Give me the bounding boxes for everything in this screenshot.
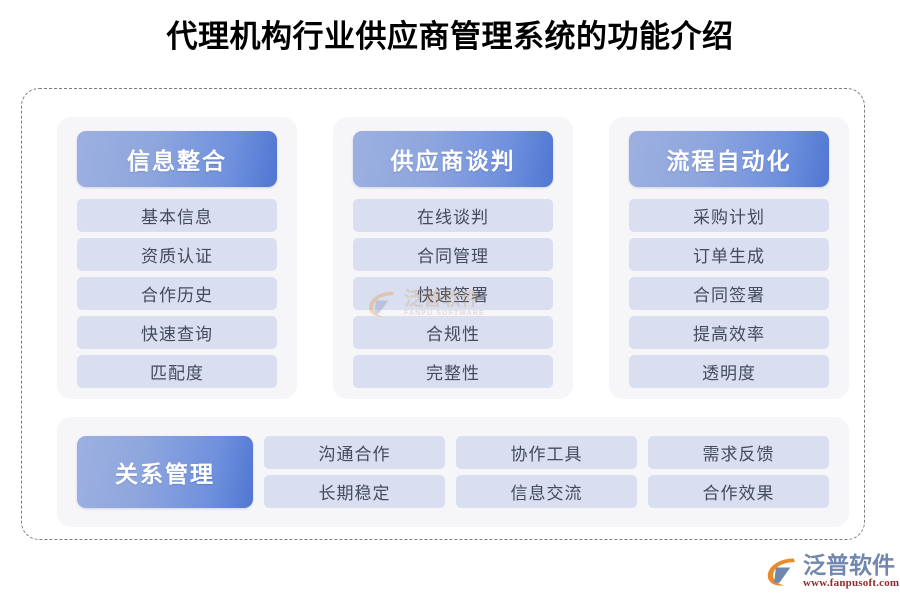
card-header-information-integration[interactable]: 信息整合 [77, 131, 277, 187]
list-item[interactable]: 合同签署 [629, 277, 829, 310]
list-item[interactable]: 快速签署 [353, 277, 553, 310]
list-item[interactable]: 合作历史 [77, 277, 277, 310]
fanpu-swoosh-icon [766, 556, 802, 588]
logo-website-url: www.fanpusoft.com [803, 577, 899, 590]
list-item[interactable]: 订单生成 [629, 238, 829, 271]
list-item[interactable]: 资质认证 [77, 238, 277, 271]
card-items-information-integration: 基本信息 资质认证 合作历史 快速查询 匹配度 [77, 199, 277, 388]
list-item[interactable]: 合规性 [353, 316, 553, 349]
list-item[interactable]: 完整性 [353, 355, 553, 388]
card-items-relationship-management: 沟通合作 协作工具 需求反馈 长期稳定 信息交流 合作效果 [264, 436, 829, 508]
card-header-process-automation[interactable]: 流程自动化 [629, 131, 829, 187]
feature-card-supplier-negotiation: 供应商谈判 在线谈判 合同管理 快速签署 合规性 完整性 [333, 117, 573, 399]
list-item[interactable]: 协作工具 [456, 436, 637, 469]
list-item[interactable]: 沟通合作 [264, 436, 445, 469]
list-item[interactable]: 合同管理 [353, 238, 553, 271]
feature-card-information-integration: 信息整合 基本信息 资质认证 合作历史 快速查询 匹配度 [57, 117, 297, 399]
list-item[interactable]: 需求反馈 [648, 436, 829, 469]
brand-logo: 泛普软件 www.fanpusoft.com [766, 552, 894, 592]
list-item[interactable]: 快速查询 [77, 316, 277, 349]
list-item[interactable]: 合作效果 [648, 475, 829, 508]
card-header-relationship-management[interactable]: 关系管理 [77, 436, 253, 508]
feature-columns-row: 信息整合 基本信息 资质认证 合作历史 快速查询 匹配度 供应商谈判 在线谈判 … [57, 117, 849, 399]
card-items-process-automation: 采购计划 订单生成 合同签署 提高效率 透明度 [629, 199, 829, 388]
list-item[interactable]: 在线谈判 [353, 199, 553, 232]
feature-card-relationship-management: 关系管理 沟通合作 协作工具 需求反馈 长期稳定 信息交流 合作效果 [57, 417, 849, 527]
logo-brand-name: 泛普软件 [803, 554, 899, 577]
page-title: 代理机构行业供应商管理系统的功能介绍 [0, 17, 900, 57]
card-items-supplier-negotiation: 在线谈判 合同管理 快速签署 合规性 完整性 [353, 199, 553, 388]
list-item[interactable]: 提高效率 [629, 316, 829, 349]
list-item[interactable]: 透明度 [629, 355, 829, 388]
infographic-page: 代理机构行业供应商管理系统的功能介绍 信息整合 基本信息 资质认证 合作历史 快… [0, 0, 900, 600]
list-item[interactable]: 基本信息 [77, 199, 277, 232]
list-item[interactable]: 信息交流 [456, 475, 637, 508]
list-item[interactable]: 匹配度 [77, 355, 277, 388]
feature-card-process-automation: 流程自动化 采购计划 订单生成 合同签署 提高效率 透明度 [609, 117, 849, 399]
logo-text-group: 泛普软件 www.fanpusoft.com [803, 554, 899, 590]
list-item[interactable]: 采购计划 [629, 199, 829, 232]
list-item[interactable]: 长期稳定 [264, 475, 445, 508]
card-header-supplier-negotiation[interactable]: 供应商谈判 [353, 131, 553, 187]
